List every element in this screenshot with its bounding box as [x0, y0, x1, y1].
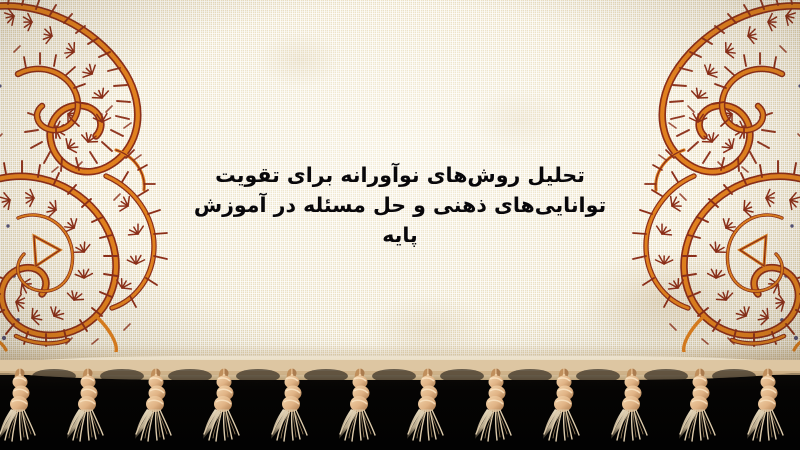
title-line-3: پایه — [0, 220, 800, 250]
slide-canvas: تحلیل روش‌های نوآورانه برای تقویت توانای… — [0, 0, 800, 450]
tassel-row — [0, 373, 783, 441]
page-title: تحلیل روش‌های نوآورانه برای تقویت توانای… — [0, 160, 800, 250]
title-line-1: تحلیل روش‌های نوآورانه برای تقویت — [0, 160, 800, 190]
title-line-2: توانایی‌های ذهنی و حل مسئله در آموزش — [0, 190, 800, 220]
knotted-tassel-fringe — [0, 360, 800, 450]
